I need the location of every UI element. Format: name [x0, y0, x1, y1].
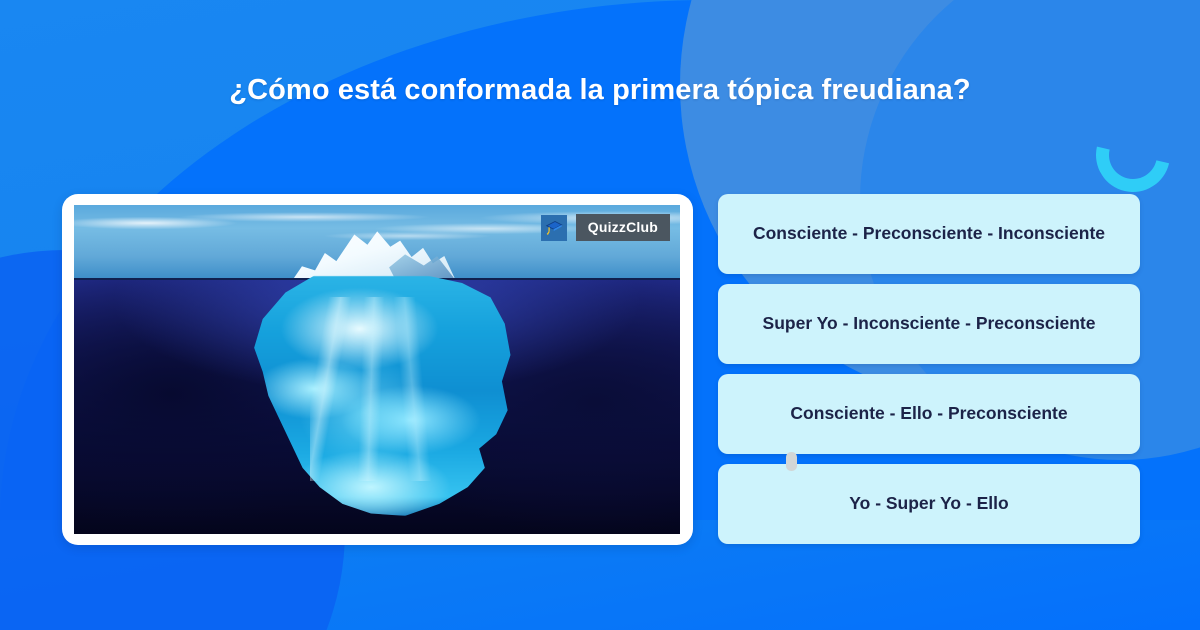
answer-option-4-label: Yo - Super Yo - Ello: [849, 492, 1008, 516]
answer-option-2[interactable]: Super Yo - Inconsciente - Preconsciente: [718, 284, 1140, 364]
answer-option-2-label: Super Yo - Inconsciente - Preconsciente: [763, 312, 1096, 336]
answer-option-3[interactable]: Consciente - Ello - Preconsciente: [718, 374, 1140, 454]
answer-option-4[interactable]: Yo - Super Yo - Ello: [718, 464, 1140, 544]
page-title: ¿Cómo está conformada la primera tópica …: [0, 74, 1200, 107]
watermark: QuizzClub: [541, 214, 670, 241]
question-image-card: QuizzClub: [62, 194, 693, 545]
answer-option-1[interactable]: Consciente - Preconsciente - Inconscient…: [718, 194, 1140, 274]
iceberg-streaks: [310, 297, 431, 481]
answer-option-1-label: Consciente - Preconsciente - Inconscient…: [753, 222, 1105, 246]
quiz-card-stage: ¿Cómo está conformada la primera tópica …: [0, 0, 1200, 630]
answer-option-3-label: Consciente - Ello - Preconsciente: [790, 402, 1067, 426]
watermark-brand-label: QuizzClub: [576, 214, 670, 241]
graduation-cap-icon: [541, 215, 567, 241]
scroll-thumb-nub[interactable]: [786, 452, 797, 471]
answer-options-list: Consciente - Preconsciente - Inconscient…: [718, 194, 1140, 544]
iceberg-photo: QuizzClub: [74, 205, 680, 534]
